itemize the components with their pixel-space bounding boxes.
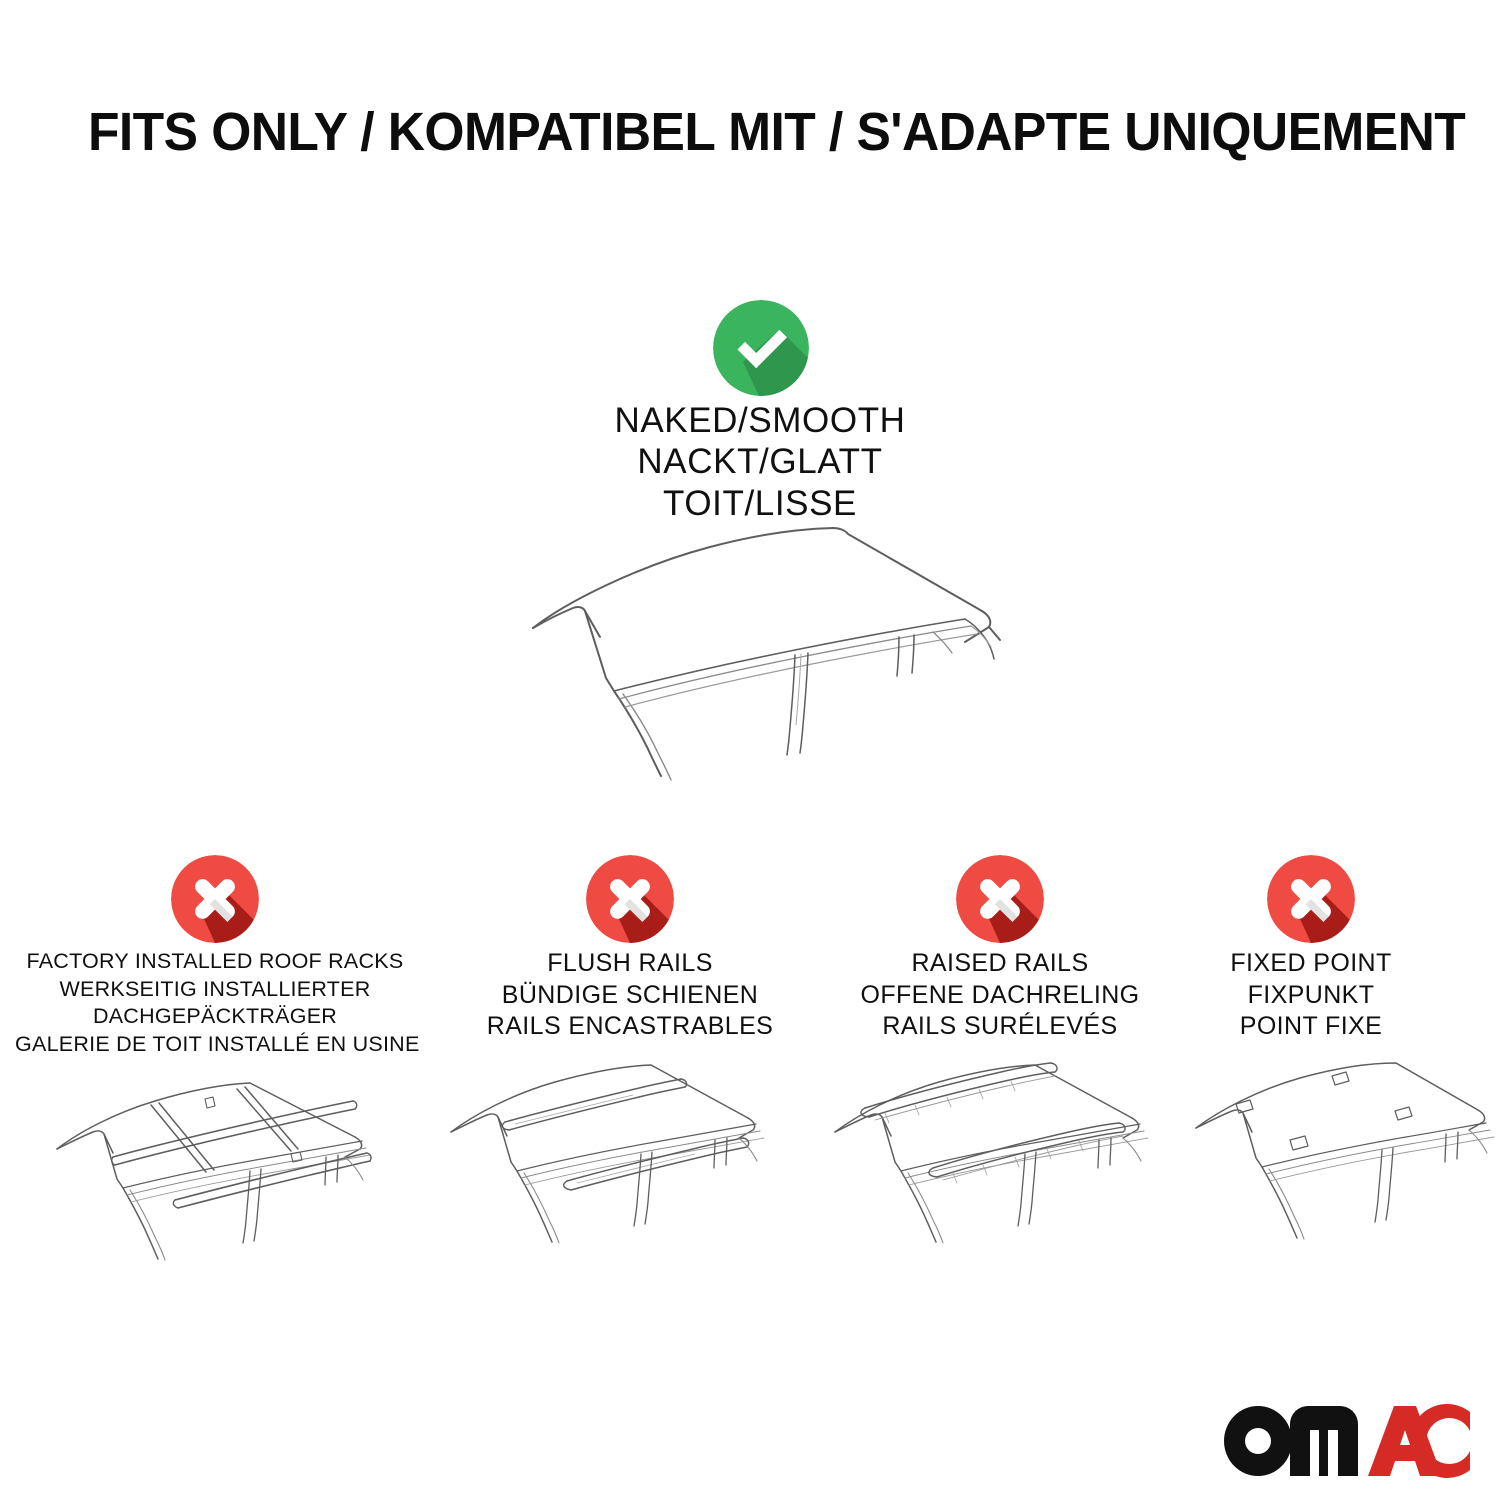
- naked-smooth-roof-illustration: [495, 515, 1035, 805]
- label-line-4: GALERIE DE TOIT INSTALLÉ EN USINE: [15, 1031, 415, 1059]
- label-line-3: RAILS ENCASTRABLES: [440, 1011, 820, 1043]
- label-line-3: RAILS SURÉLEVÉS: [815, 1011, 1185, 1043]
- label-line-3: DACHGEPÄCKTRÄGER: [15, 1003, 415, 1031]
- check-circle-icon: [713, 300, 809, 396]
- label-line-3: POINT FIXE: [1161, 1011, 1461, 1043]
- cross-circle-icon: [956, 855, 1044, 943]
- label-line-2: BÜNDIGE SCHIENEN: [440, 980, 820, 1012]
- label-line-1: FACTORY INSTALLED ROOF RACKS: [15, 948, 415, 976]
- cross-circle-icon: [586, 855, 674, 943]
- factory-roof-racks-label: FACTORY INSTALLED ROOF RACKS WERKSEITIG …: [15, 948, 415, 1058]
- omac-logo: [1222, 1404, 1470, 1478]
- label-line-1: FIXED POINT: [1161, 948, 1461, 980]
- raised-rails-label: RAISED RAILS OFFENE DACHRELING RAILS SUR…: [815, 948, 1185, 1043]
- fixed-point-roof-illustration: [1190, 1060, 1500, 1270]
- compatible-label: NAKED/SMOOTH NACKT/GLATT TOIT/LISSE: [560, 400, 960, 524]
- label-line-1: RAISED RAILS: [815, 948, 1185, 980]
- factory-roof-racks-illustration: [45, 1075, 425, 1275]
- fixed-point-label: FIXED POINT FIXPUNKT POINT FIXE: [1161, 948, 1461, 1043]
- cross-circle-icon: [171, 855, 259, 943]
- cross-circle-icon: [1267, 855, 1355, 943]
- label-line-2: WERKSEITIG INSTALLIERTER: [15, 976, 415, 1004]
- compatibility-infographic: FITS ONLY / KOMPATIBEL MIT / S'ADAPTE UN…: [0, 0, 1500, 1500]
- raised-rails-roof-illustration: [825, 1060, 1195, 1270]
- flush-rails-roof-illustration: [443, 1060, 813, 1270]
- compatible-label-line-2: NACKT/GLATT: [560, 441, 960, 482]
- label-line-2: OFFENE DACHRELING: [815, 980, 1185, 1012]
- flush-rails-label: FLUSH RAILS BÜNDIGE SCHIENEN RAILS ENCAS…: [440, 948, 820, 1043]
- label-line-1: FLUSH RAILS: [440, 948, 820, 980]
- compatible-label-line-1: NAKED/SMOOTH: [560, 400, 960, 441]
- label-line-2: FIXPUNKT: [1161, 980, 1461, 1012]
- page-title: FITS ONLY / KOMPATIBEL MIT / S'ADAPTE UN…: [88, 104, 1358, 161]
